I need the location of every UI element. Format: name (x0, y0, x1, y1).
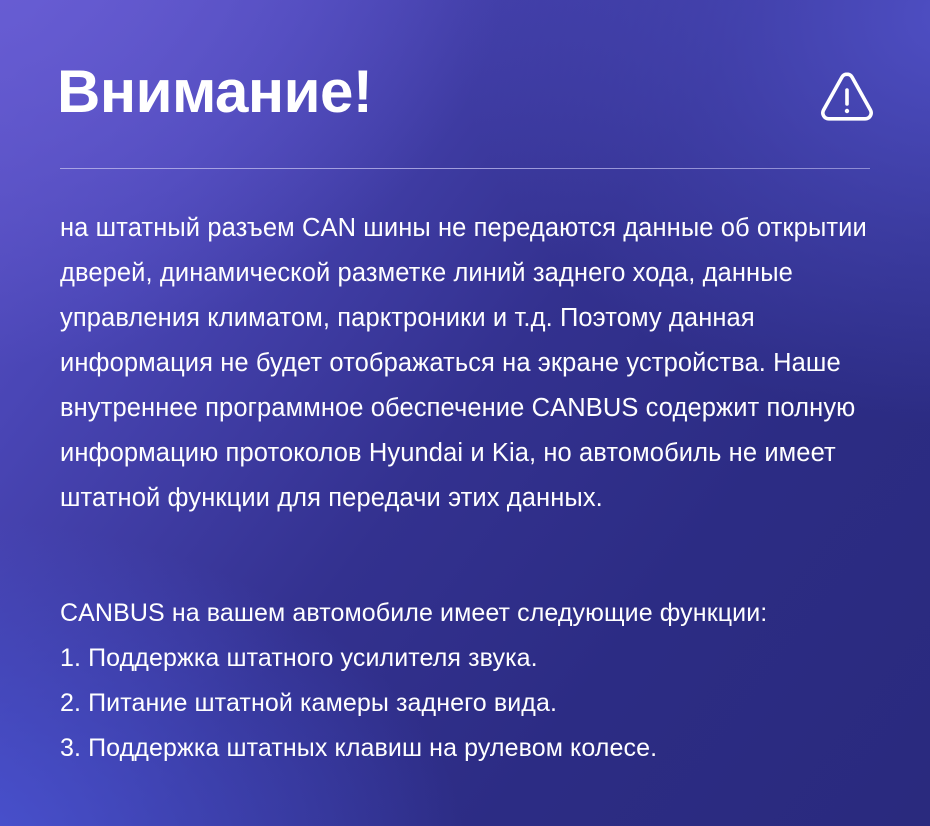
body-paragraph: на штатный разъем CAN шины не передаются… (60, 206, 876, 521)
features-list: 1. Поддержка штатного усилителя звука. 2… (60, 636, 876, 771)
body-text-block: на штатный разъем CAN шины не передаются… (60, 206, 876, 521)
features-intro: CANBUS на вашем автомобиле имеет следующ… (60, 591, 876, 636)
page-title: Внимание! (57, 59, 372, 125)
features-block: CANBUS на вашем автомобиле имеет следующ… (60, 591, 876, 771)
warning-triangle-icon (818, 68, 876, 124)
list-item: 1. Поддержка штатного усилителя звука. (60, 636, 876, 681)
list-item: 2. Питание штатной камеры заднего вида. (60, 681, 876, 726)
banner-header: Внимание! (0, 0, 930, 160)
warning-banner: Внимание! на штатный разъем CAN шины не … (0, 0, 930, 826)
list-item: 3. Поддержка штатных клавиш на рулевом к… (60, 726, 876, 771)
header-divider (60, 168, 870, 169)
